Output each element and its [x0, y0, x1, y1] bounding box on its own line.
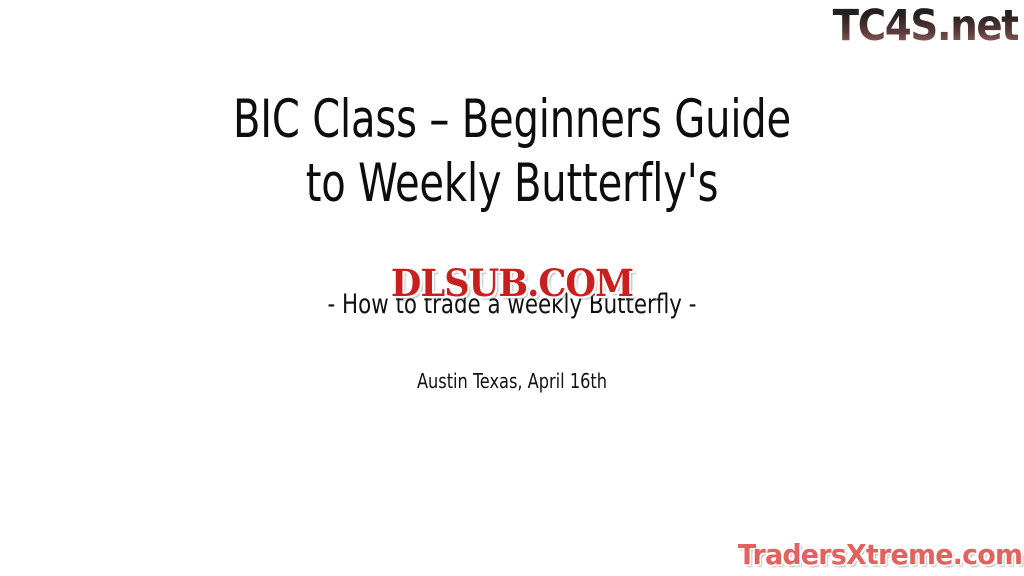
slide-title: BIC Class – Beginners Guide to Weekly Bu…: [0, 88, 1024, 216]
presentation-slide: BIC Class – Beginners Guide to Weekly Bu…: [0, 0, 1024, 576]
slide-dateline: Austin Texas, April 16th: [51, 368, 973, 394]
title-line-1: BIC Class – Beginners Guide: [82, 88, 942, 152]
watermark-tradersxtreme: TradersXtreme.com: [738, 538, 1022, 572]
watermark-dlsub: DLSUB.COM: [26, 262, 999, 304]
title-line-2: to Weekly Butterfly's: [82, 152, 942, 216]
watermark-tc4s: TC4S.net: [832, 2, 1018, 50]
